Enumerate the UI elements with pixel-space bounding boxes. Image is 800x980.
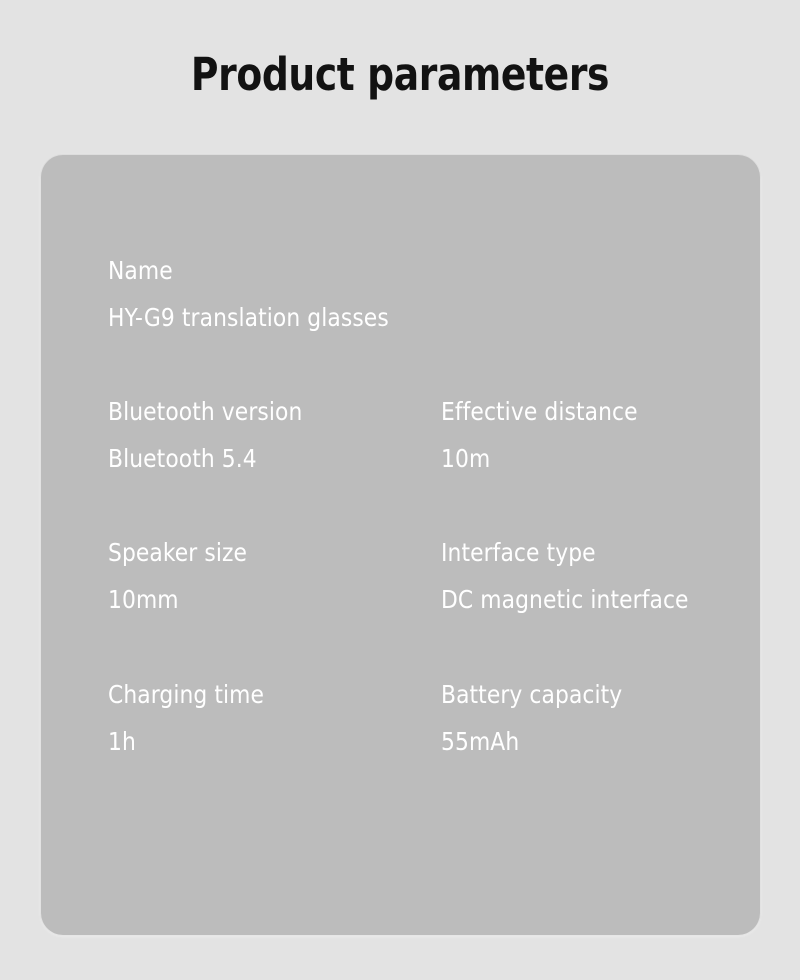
spec-value: 1h — [108, 729, 136, 754]
spec-row: Name HY-G9 translation glasses — [41, 258, 760, 348]
spec-label: Bluetooth version — [108, 399, 302, 424]
spec-label: Name — [108, 258, 173, 283]
spec-label: Effective distance — [441, 399, 638, 424]
spec-value: 55mAh — [441, 729, 519, 754]
spec-label: Charging time — [108, 682, 264, 707]
spec-label: Speaker size — [108, 540, 247, 565]
spec-row: Speaker size 10mm Interface type DC magn… — [41, 540, 760, 630]
spec-row: Bluetooth version Bluetooth 5.4 Effectiv… — [41, 399, 760, 489]
spec-value: DC magnetic interface — [441, 587, 689, 612]
spec-value: HY-G9 translation glasses — [108, 305, 389, 330]
specifications-card: Name HY-G9 translation glasses Bluetooth… — [41, 155, 760, 935]
spec-label: Interface type — [441, 540, 596, 565]
spec-value: 10mm — [108, 587, 179, 612]
product-parameters-page: Product parameters Name HY-G9 translatio… — [0, 0, 800, 980]
spec-label: Battery capacity — [441, 682, 622, 707]
spec-value: Bluetooth 5.4 — [108, 446, 257, 471]
page-title: Product parameters — [28, 52, 772, 97]
spec-value: 10m — [441, 446, 490, 471]
specifications-grid: Name HY-G9 translation glasses Bluetooth… — [41, 155, 760, 935]
spec-row: Charging time 1h Battery capacity 55mAh — [41, 682, 760, 772]
